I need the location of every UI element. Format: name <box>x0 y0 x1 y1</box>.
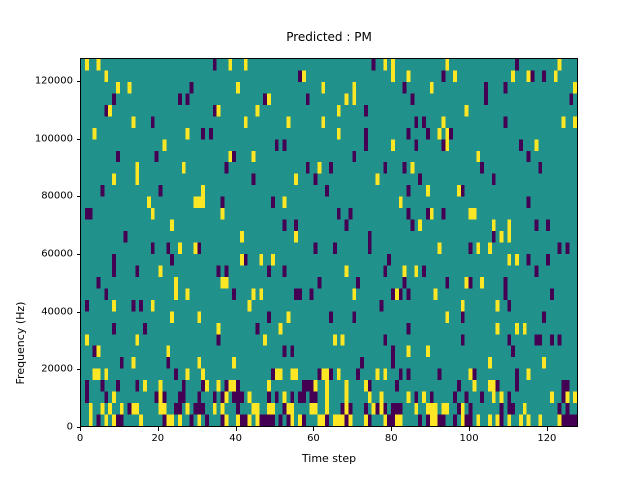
y-tick-mark <box>77 312 81 313</box>
x-tick-mark <box>469 427 470 431</box>
figure-canvas: Predicted : PM 020406080100120 020000400… <box>0 0 640 480</box>
y-axis-label: Frequency (Hz) <box>14 243 27 443</box>
y-tick-mark <box>77 81 81 82</box>
x-tick-mark <box>80 427 81 431</box>
y-tick-label: 80000 <box>41 191 73 202</box>
y-tick-mark <box>77 427 81 428</box>
x-tick-label: 120 <box>537 433 556 444</box>
y-tick-label: 20000 <box>41 364 73 375</box>
y-tick-label: 60000 <box>41 249 73 260</box>
x-tick-label: 20 <box>151 433 164 444</box>
x-tick-mark <box>547 427 548 431</box>
y-tick-label: 0 <box>67 422 73 433</box>
y-tick-mark <box>77 196 81 197</box>
y-tick-mark <box>77 254 81 255</box>
y-tick-mark <box>77 369 81 370</box>
x-tick-mark <box>158 427 159 431</box>
x-tick-label: 60 <box>307 433 320 444</box>
x-tick-mark <box>313 427 314 431</box>
x-tick-label: 80 <box>385 433 398 444</box>
heatmap-image <box>81 59 577 426</box>
x-tick-mark <box>391 427 392 431</box>
x-axis-label: Time step <box>80 452 578 465</box>
x-tick-label: 100 <box>460 433 479 444</box>
x-tick-mark <box>236 427 237 431</box>
x-tick-label: 40 <box>229 433 242 444</box>
y-tick-label: 120000 <box>35 76 73 87</box>
y-tick-label: 100000 <box>35 133 73 144</box>
y-tick-mark <box>77 139 81 140</box>
heatmap-plot-area[interactable] <box>80 58 578 427</box>
page-title: Predicted : PM <box>80 30 578 44</box>
y-tick-label: 40000 <box>41 306 73 317</box>
x-tick-label: 0 <box>77 433 83 444</box>
